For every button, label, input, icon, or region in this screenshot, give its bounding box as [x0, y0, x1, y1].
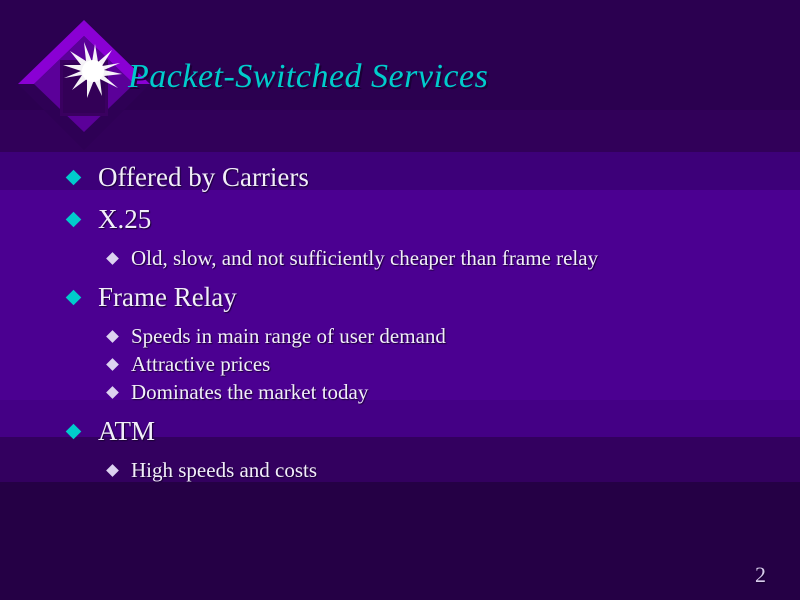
slide-number: 2 [755, 562, 766, 588]
sub-bullet-diamond-icon [106, 252, 119, 265]
sub-bullet-diamond-icon [106, 330, 119, 343]
list-item-label: Attractive prices [131, 352, 270, 376]
list-item-label: ATM [98, 416, 155, 446]
bullet-diamond-icon [66, 290, 82, 306]
list-item: Attractive prices [0, 352, 800, 376]
bullet-diamond-icon [66, 170, 82, 186]
presentation-slide: Packet-Switched Services Offered by Carr… [0, 0, 800, 600]
list-item: X.25 [0, 204, 800, 234]
bullet-diamond-icon [66, 212, 82, 228]
list-item-label: Speeds in main range of user demand [131, 324, 446, 348]
list-item-label: Offered by Carriers [98, 162, 309, 192]
list-item: Old, slow, and not sufficiently cheaper … [0, 246, 800, 270]
sparkle-star-icon [63, 42, 122, 98]
sub-bullet-diamond-icon [106, 358, 119, 371]
list-item: Speeds in main range of user demand [0, 324, 800, 348]
list-item: Frame Relay [0, 282, 800, 312]
list-item: Dominates the market today [0, 380, 800, 404]
list-item: High speeds and costs [0, 458, 800, 482]
list-item: ATM [0, 416, 800, 446]
list-item-label: Old, slow, and not sufficiently cheaper … [131, 246, 598, 270]
list-item-label: Frame Relay [98, 282, 237, 312]
list-item-label: X.25 [98, 204, 151, 234]
list-item: Offered by Carriers [0, 162, 800, 192]
list-item-label: Dominates the market today [131, 380, 368, 404]
sub-bullet-diamond-icon [106, 464, 119, 477]
page-title: Packet-Switched Services [128, 58, 768, 96]
bullet-list: Offered by Carriers X.25 Old, slow, and … [0, 150, 800, 486]
bullet-diamond-icon [66, 424, 82, 440]
list-item-label: High speeds and costs [131, 458, 317, 482]
sub-bullet-diamond-icon [106, 386, 119, 399]
